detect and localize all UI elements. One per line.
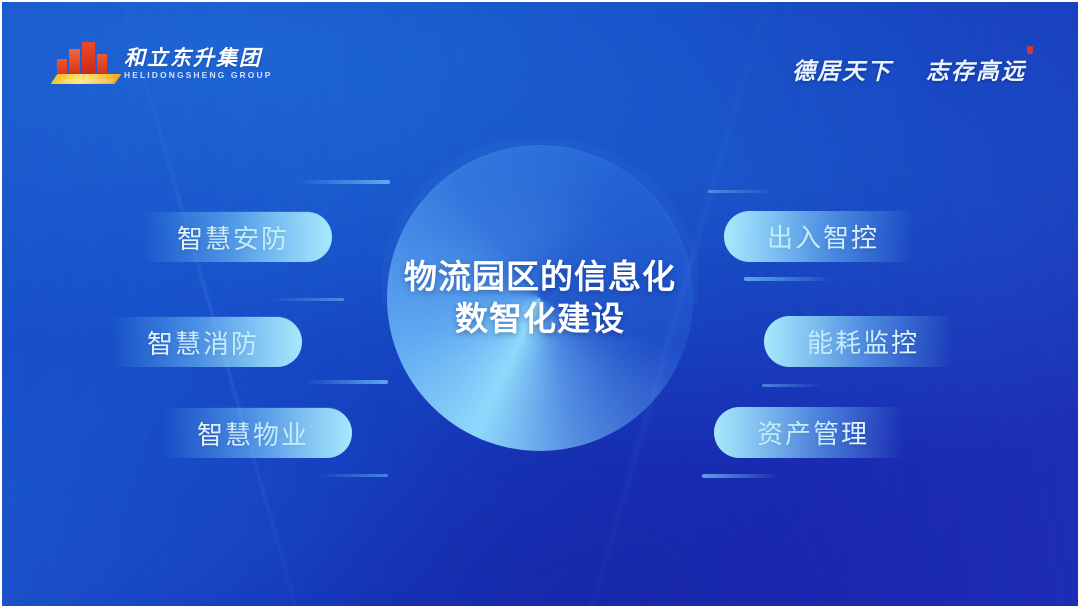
logo-english-name: HELIDONGSHENG GROUP [124,71,273,80]
accent-dash-right-2 [708,190,774,193]
red-seal-icon [1027,46,1033,54]
pill-left-1-label: 智慧安防 [177,219,289,256]
logo-bar-4 [97,54,107,75]
pill-left-2[interactable]: 智慧消防 [112,316,302,367]
slide-root: 和立东升集团 HELIDONGSHENG GROUP 德居天下 志存高远 物流园… [0,0,1080,608]
accent-dash-left-1 [298,180,390,184]
center-title-line-2: 数智化建设 [375,298,705,340]
pill-right-3[interactable]: 资产管理 [714,407,904,458]
center-title-line-1: 物流园区的信息化 [375,256,705,298]
pill-left-1[interactable]: 智慧安防 [142,211,332,262]
logo-bar-3 [82,42,95,75]
logo-wordmark: 和立东升集团 HELIDONGSHENG GROUP [124,47,273,80]
slogan-part-2: 志存高远 [926,52,1026,86]
accent-dash-left-4 [318,474,388,477]
accent-dash-left-3 [304,380,388,384]
accent-dash-right-1 [744,277,834,281]
center-title: 物流园区的信息化 数智化建设 [375,256,705,340]
accent-dash-right-4 [762,384,822,387]
pill-right-1[interactable]: 出入智控 [724,211,914,262]
pill-right-1-label: 出入智控 [767,218,879,255]
accent-dash-right-3 [702,474,780,478]
pill-right-2[interactable]: 能耗监控 [764,316,954,367]
company-slogan: 德居天下 志存高远 [792,52,1026,86]
slide-header: 和立东升集团 HELIDONGSHENG GROUP 德居天下 志存高远 [2,2,1078,122]
pill-left-3[interactable]: 智慧物业 [162,407,352,458]
slogan-part-1: 德居天下 [792,52,892,86]
pill-left-2-label: 智慧消防 [147,324,259,361]
building-bars-icon [57,42,115,84]
accent-dash-left-2 [270,298,344,301]
slogan-part-2-text: 志存高远 [926,58,1026,85]
pill-right-2-label: 能耗监控 [807,323,919,360]
pill-left-3-label: 智慧物业 [197,415,309,452]
logo-chinese-name: 和立东升集团 [124,47,273,68]
logo-bar-1 [57,59,67,75]
company-logo: 和立东升集团 HELIDONGSHENG GROUP [57,42,273,84]
center-circle-group: 物流园区的信息化 数智化建设 [387,145,693,451]
logo-base-highlight [62,79,115,83]
pill-right-3-label: 资产管理 [757,414,869,451]
logo-bar-2 [69,49,80,75]
